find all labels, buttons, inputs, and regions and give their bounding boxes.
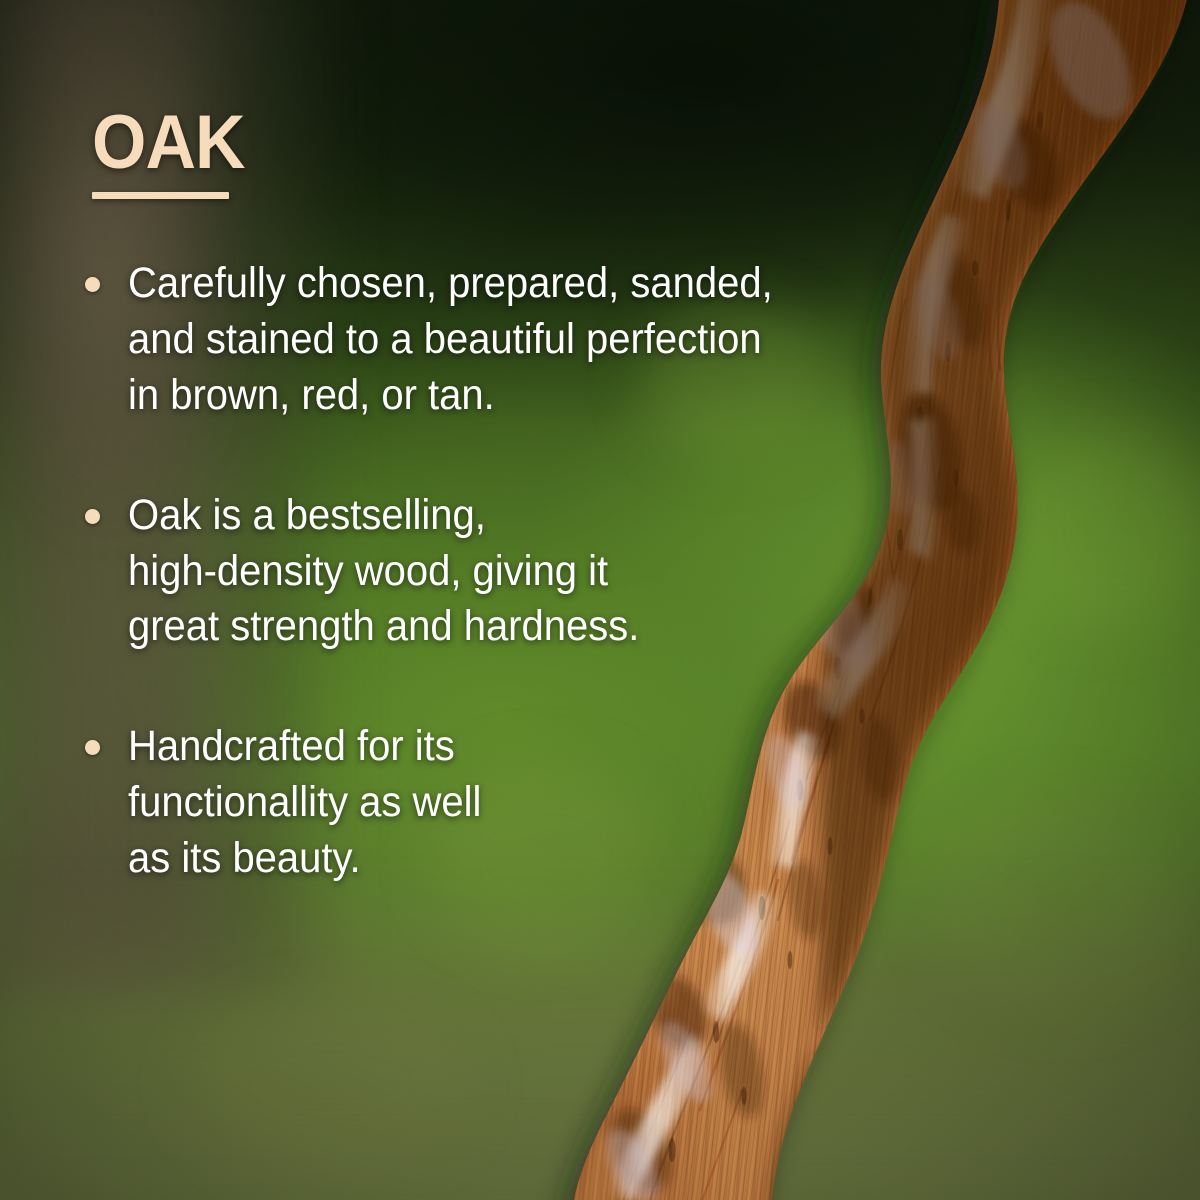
feature-text: Carefully chosen, prepared, sanded, and … [128,256,798,424]
feature-text: Oak is a bestselling, high-density wood,… [128,488,798,656]
bokeh-orb [1010,430,1200,630]
text-panel: OAK Carefully chosen, prepared, sanded, … [0,0,860,1200]
product-feature-card: OAK Carefully chosen, prepared, sanded, … [0,0,1200,1200]
title-underline [92,192,229,199]
page-title: OAK [92,108,478,178]
title-block: OAK [92,108,512,199]
list-item: Carefully chosen, prepared, sanded, and … [78,256,848,424]
list-item: Handcrafted for its functionallity as we… [78,719,848,887]
feature-list: Carefully chosen, prepared, sanded, and … [78,256,848,887]
list-item: Oak is a bestselling, high-density wood,… [78,488,848,656]
bokeh-orb [930,800,1190,1010]
bullet-dot-icon [85,277,100,292]
bullet-dot-icon [85,509,100,524]
feature-text: Handcrafted for its functionallity as we… [128,719,798,887]
bullet-dot-icon [85,740,100,755]
